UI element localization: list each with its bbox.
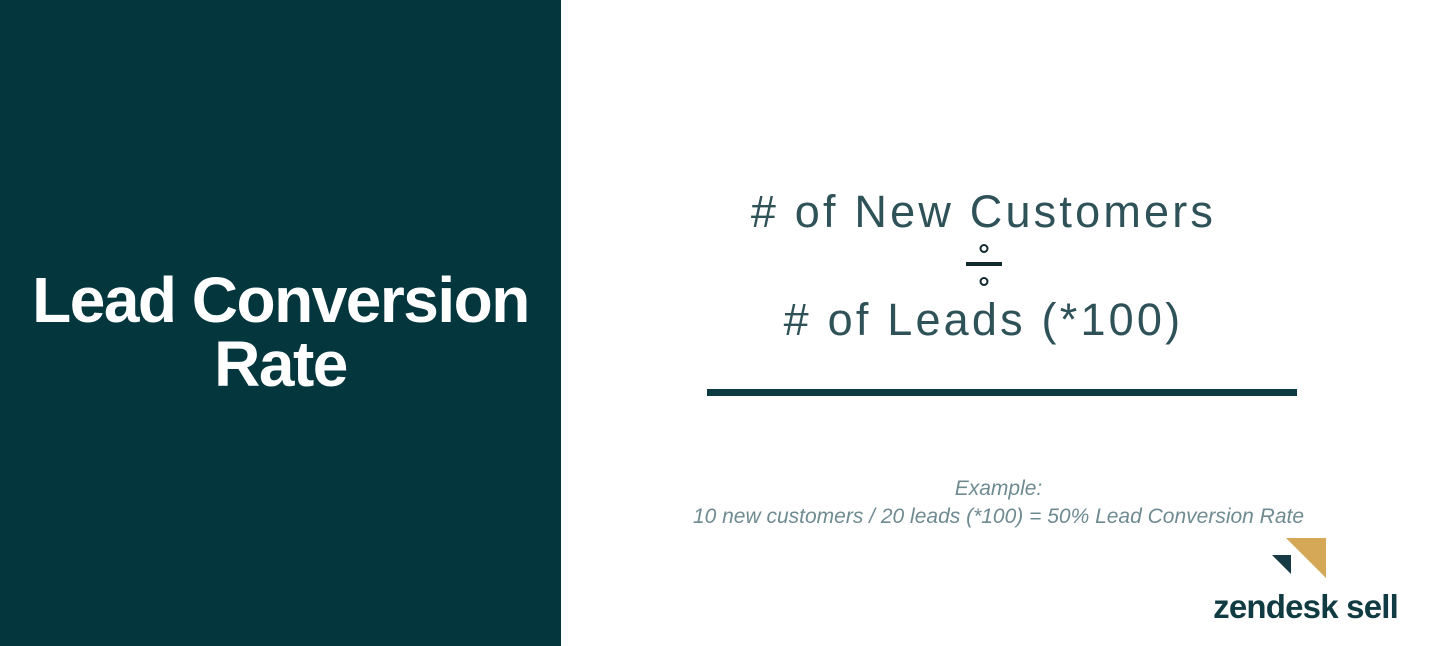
divide-icon-dot-bottom xyxy=(979,277,988,286)
divide-icon-dot-top xyxy=(979,244,988,253)
formula-numerator: # of New Customers xyxy=(561,188,1406,235)
logo-gold-triangle-icon xyxy=(1286,538,1326,578)
left-title-panel: Lead Conversion Rate xyxy=(0,0,561,646)
example-calculation: 10 new customers / 20 leads (*100) = 50%… xyxy=(561,503,1436,531)
divider-rule xyxy=(707,389,1297,396)
formula-denominator: # of Leads (*100) xyxy=(561,296,1406,343)
page-title-line-1: Lead Conversion xyxy=(21,268,541,332)
zendesk-sell-logo: zendesk sell xyxy=(1181,536,1411,628)
logo-wordmark: zendesk sell xyxy=(1181,590,1411,623)
formula-panel: # of New Customers # of Leads (*100) Exa… xyxy=(561,0,1440,646)
divide-icon xyxy=(966,244,1002,286)
zendesk-sell-triangle-mark-icon xyxy=(1181,536,1411,584)
page-title: Lead Conversion Rate xyxy=(21,268,541,396)
divide-icon-bar xyxy=(966,262,1002,266)
page-title-line-2: Rate xyxy=(21,332,541,396)
example-caption: Example: 10 new customers / 20 leads (*1… xyxy=(561,475,1436,530)
slide-canvas: Lead Conversion Rate # of New Customers … xyxy=(0,0,1440,646)
formula-block: # of New Customers # of Leads (*100) xyxy=(561,188,1406,344)
logo-dark-triangle-icon xyxy=(1272,555,1291,574)
example-heading: Example: xyxy=(561,475,1436,503)
